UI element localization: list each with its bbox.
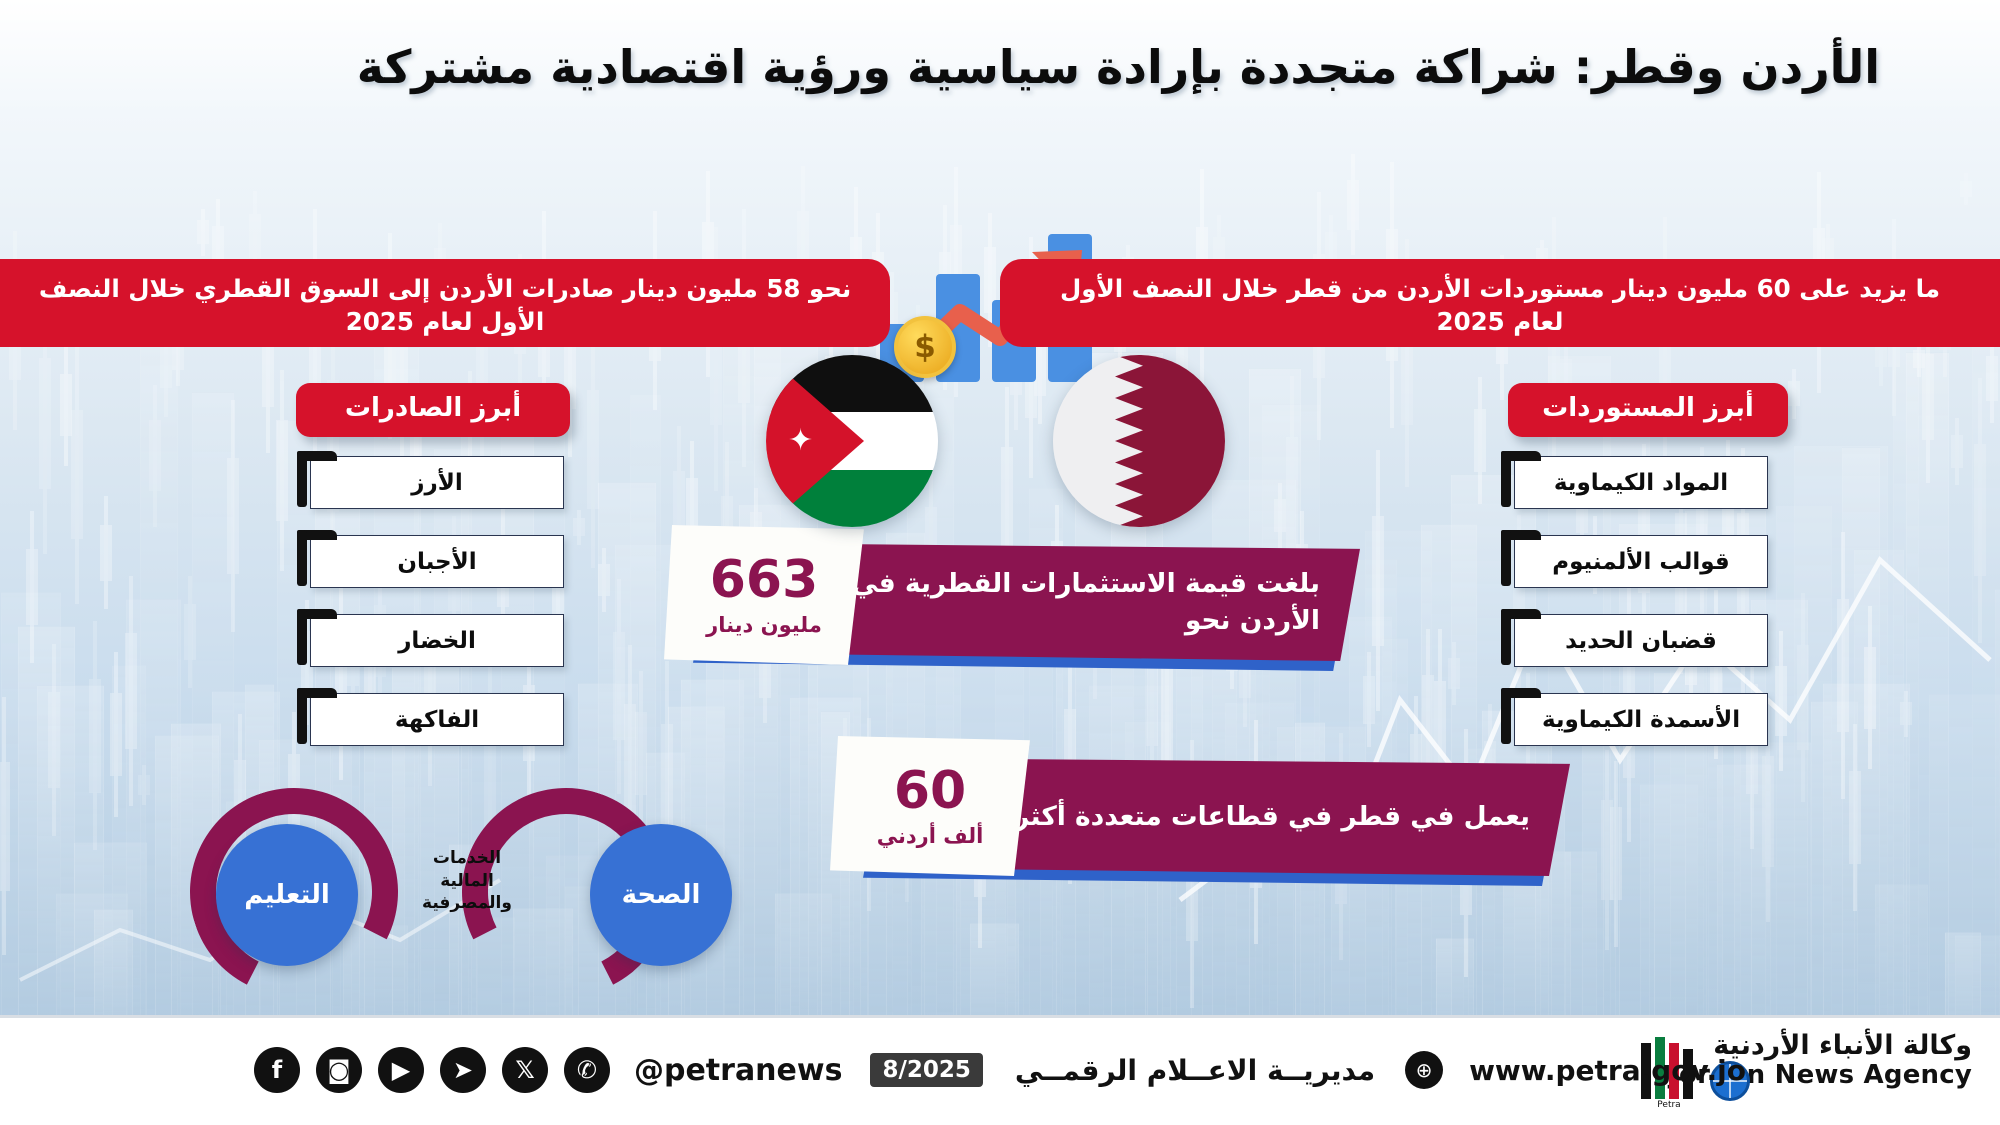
website-icon: ⊕	[1405, 1051, 1443, 1089]
exports-headline-banner: نحو 58 مليون دينار صادرات الأردن إلى الس…	[0, 259, 890, 347]
sector-financial-services: الخدمات المالية والمصرفية	[406, 820, 528, 942]
exports-item-label: الخضار	[398, 628, 476, 654]
investment-unit: مليون دينار	[706, 613, 822, 637]
exports-item-label: الأجبان	[397, 549, 476, 575]
imports-item-label: قوالب الألمنيوم	[1552, 549, 1729, 575]
imports-section-heading: أبرز المستوردات	[1508, 383, 1788, 437]
jordan-flag-icon: ✦	[766, 355, 938, 527]
list-item: الفاكهة	[310, 693, 564, 746]
list-item: الأجبان	[310, 535, 564, 588]
exports-item-label: الأرز	[411, 470, 463, 496]
issue-date-badge: 8/2025	[870, 1053, 982, 1087]
investment-value-card: 663 مليون دينار	[664, 525, 864, 665]
website-url[interactable]: www.petra.gov.jo	[1469, 1054, 1746, 1087]
social-handle: @petranews	[634, 1053, 842, 1088]
sectors-group: التعليم الخدمات المالية والمصرفية الصحة	[190, 776, 830, 986]
exports-item-label: الفاكهة	[395, 707, 479, 733]
jobs-value-card: 60 ألف أردني	[830, 736, 1030, 876]
jobs-value: 60	[894, 765, 966, 817]
imports-item-label: قضبان الحديد	[1565, 628, 1717, 654]
list-item: قضبان الحديد	[1514, 614, 1768, 667]
x-twitter-icon[interactable]: 𝕏	[502, 1047, 548, 1093]
jobs-stat-text: يعمل في قطر في قطاعات متعددة أكثر من	[965, 798, 1530, 835]
list-item: الخضار	[310, 614, 564, 667]
sector-education: التعليم	[216, 824, 358, 966]
list-item: الأرز	[310, 456, 564, 509]
jobs-unit: ألف أردني	[877, 824, 984, 848]
list-item: المواد الكيماوية	[1514, 456, 1768, 509]
facebook-icon[interactable]: f	[254, 1047, 300, 1093]
social-bar: f ◙ ▶ ➤ 𝕏 ✆ @petranews 8/2025 مديريــة ا…	[0, 1015, 2000, 1125]
footer: وكالة الأنباء الأردنية Jordan News Agenc…	[0, 1015, 2000, 1125]
list-item: قوالب الألمنيوم	[1514, 535, 1768, 588]
list-item: الأسمدة الكيماوية	[1514, 693, 1768, 746]
sector-label: الخدمات المالية والمصرفية	[406, 847, 528, 916]
sector-label: التعليم	[244, 880, 330, 910]
exports-list: الأرز الأجبان الخضار الفاكهة	[310, 456, 564, 772]
exports-section-heading: أبرز الصادرات	[296, 383, 570, 437]
qatar-flag-icon	[1053, 355, 1225, 527]
youtube-icon[interactable]: ▶	[378, 1047, 424, 1093]
instagram-icon[interactable]: ◙	[316, 1047, 362, 1093]
imports-item-label: الأسمدة الكيماوية	[1542, 707, 1740, 733]
jobs-stat-banner: يعمل في قطر في قطاعات متعددة أكثر من 60 …	[870, 758, 1570, 876]
directorate-label: مديريــة الاعــلام الرقمــي	[1015, 1054, 1375, 1087]
whatsapp-icon[interactable]: ✆	[564, 1047, 610, 1093]
imports-list: المواد الكيماوية قوالب الألمنيوم قضبان ا…	[1514, 456, 1768, 772]
imports-headline-banner: ما يزيد على 60 مليون دينار مستوردات الأر…	[1000, 259, 2000, 347]
page-title: الأردن وقطر: شراكة متجددة بإرادة سياسية …	[120, 38, 1880, 97]
sector-label: الصحة	[622, 880, 701, 910]
telegram-icon[interactable]: ➤	[440, 1047, 486, 1093]
sector-health: الصحة	[590, 824, 732, 966]
imports-item-label: المواد الكيماوية	[1554, 470, 1728, 496]
investment-stat-banner: بلغت قيمة الاستثمارات القطرية في الأردن …	[700, 543, 1360, 661]
investment-value: 663	[710, 554, 819, 606]
